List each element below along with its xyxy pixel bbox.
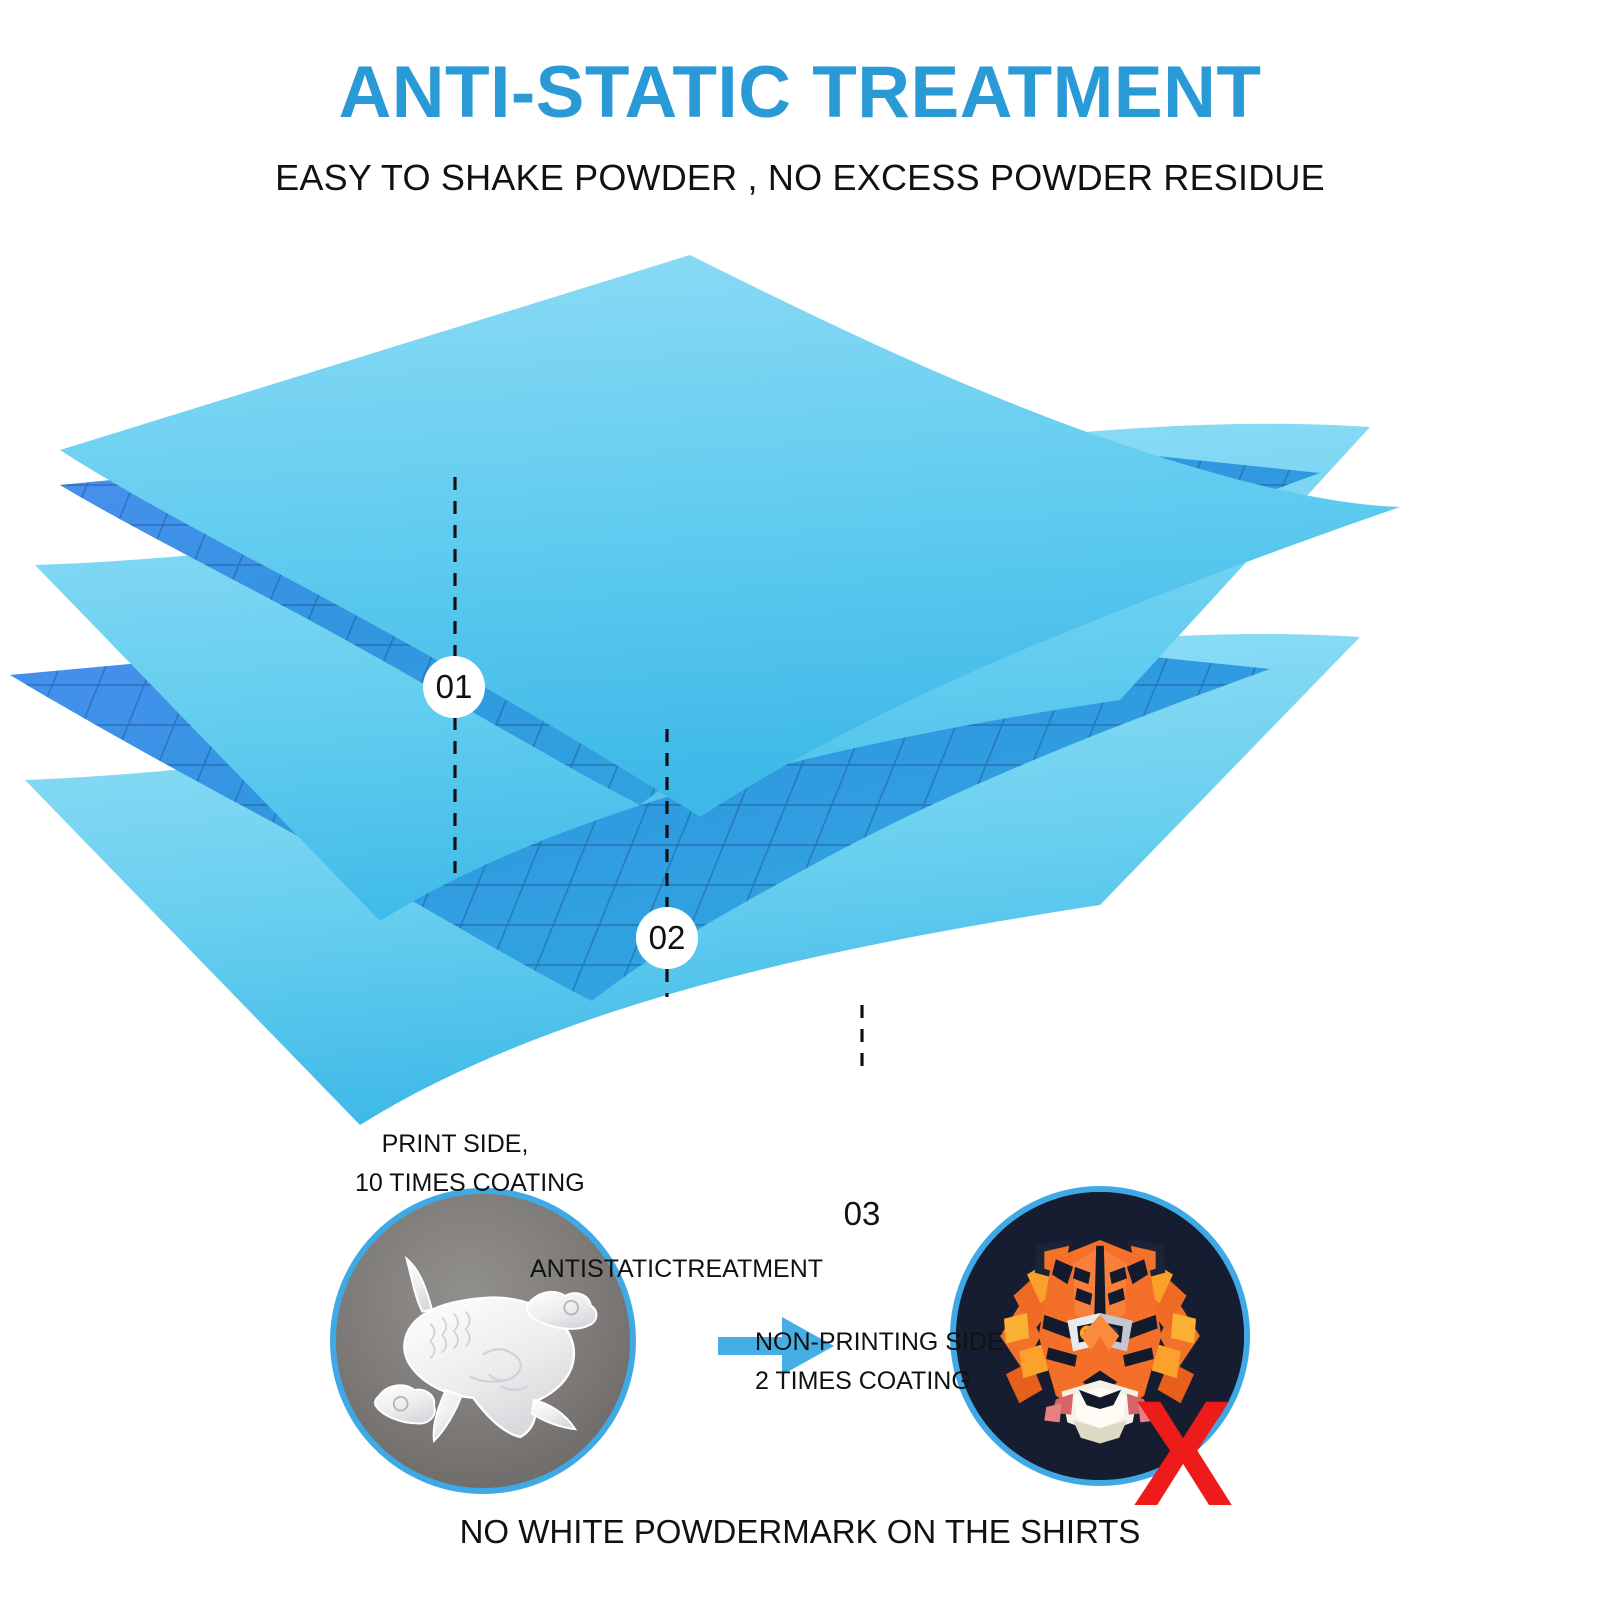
reject-x-icon: X: [1133, 1378, 1233, 1528]
layer-label-02: ANTISTATICTREATMENT: [530, 1250, 785, 1289]
layer-stack-graphic: [0, 245, 1600, 1165]
page-subtitle: EASY TO SHAKE POWDER , NO EXCESS POWDER …: [0, 129, 1600, 199]
koi-fish-icon: [336, 1194, 630, 1488]
header: ANTI-STATIC TREATMENT EASY TO SHAKE POWD…: [0, 0, 1600, 199]
layer-label-01: PRINT SIDE, 10 TIMES COATING: [355, 1125, 555, 1203]
comparison-caption: NO WHITE POWDERMARK ON THE SHIRTS: [0, 1513, 1600, 1551]
layer-label-02-line1: ANTISTATICTREATMENT: [530, 1250, 785, 1289]
layer-badge-01[interactable]: 01: [423, 656, 485, 718]
layer-stack-diagram: 01 02 03 PRINT SIDE, 10 TIMES COATING AN…: [0, 245, 1600, 1165]
layer-label-03: NON-PRINTING SIDE 2 TIMES COATING: [755, 1323, 970, 1401]
layer-badge-03[interactable]: 03: [831, 1183, 893, 1245]
layer-label-01-line2: 10 TIMES COATING: [355, 1164, 555, 1203]
page-title: ANTI-STATIC TREATMENT: [0, 0, 1600, 129]
layer-label-01-line1: PRINT SIDE,: [355, 1125, 555, 1164]
layer-badge-02[interactable]: 02: [636, 907, 698, 969]
layer-label-03-line1: NON-PRINTING SIDE: [755, 1323, 970, 1362]
layer-badge-03-text: 03: [844, 1195, 881, 1233]
layer-badge-01-text: 01: [436, 668, 473, 706]
layer-badge-02-text: 02: [649, 919, 686, 957]
koi-fish-transfer-print-photo: [330, 1188, 636, 1494]
layer-label-03-line2: 2 TIMES COATING: [755, 1362, 970, 1401]
